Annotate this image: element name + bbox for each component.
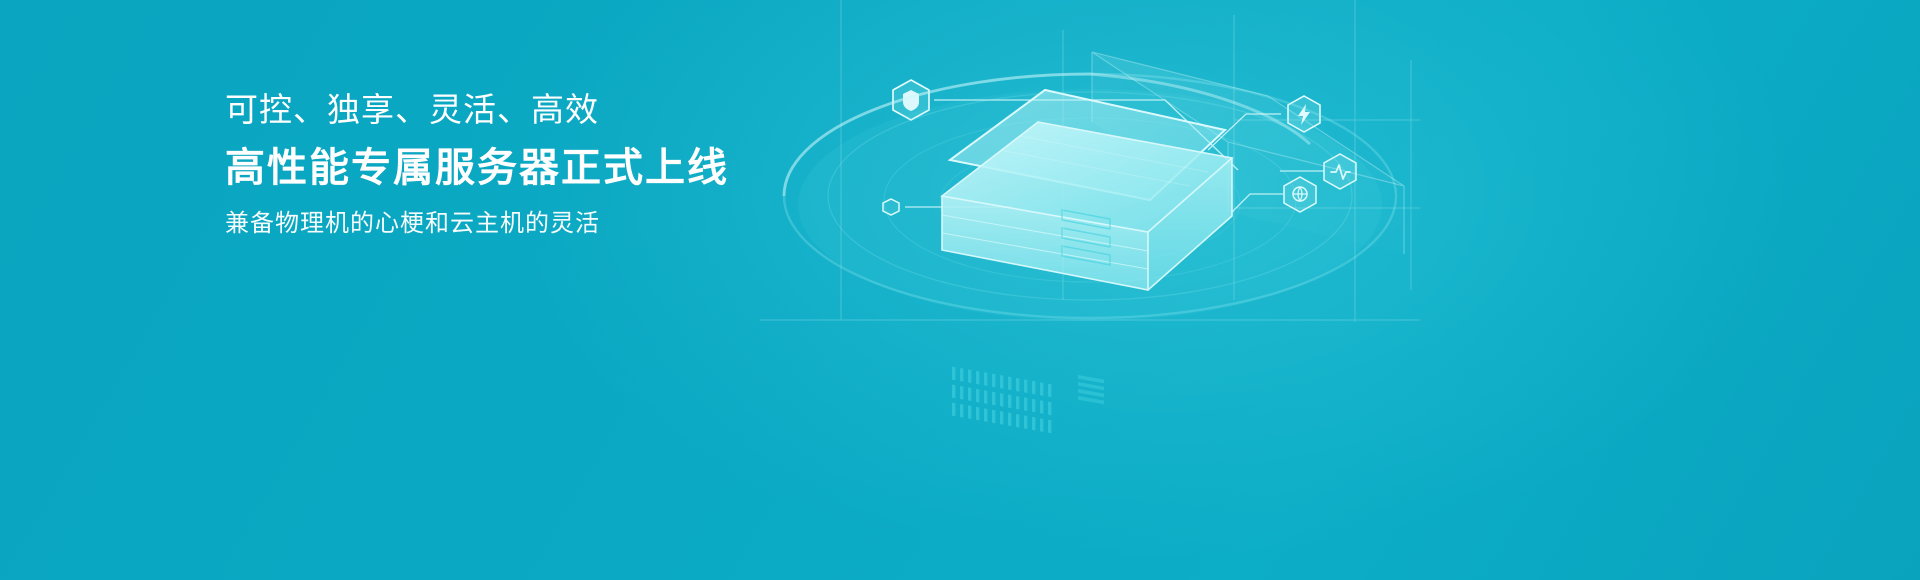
banner-eyebrow: 可控、独享、灵活、高效 xyxy=(225,88,729,132)
lightning-bolt-icon xyxy=(1288,96,1320,132)
orbital-rings xyxy=(0,0,1920,580)
globe-icon xyxy=(1284,177,1316,212)
server-chassis xyxy=(942,90,1232,433)
pulse-wave-icon xyxy=(1324,154,1356,189)
shield-icon xyxy=(893,80,929,120)
hex-node-icon xyxy=(883,199,899,215)
banner-subhead: 兼备物理机的心梗和云主机的灵活 xyxy=(225,206,729,242)
banner-headline: 高性能专属服务器正式上线 xyxy=(225,140,729,196)
background-grid xyxy=(0,0,1920,580)
hero-banner: 可控、独享、灵活、高效 高性能专属服务器正式上线 兼备物理机的心梗和云主机的灵活 xyxy=(0,0,1920,580)
server-illustration xyxy=(0,0,1920,580)
connector-lines xyxy=(905,100,1324,212)
banner-copy: 可控、独享、灵活、高效 高性能专属服务器正式上线 兼备物理机的心梗和云主机的灵活 xyxy=(225,88,729,242)
hologram-shell xyxy=(1092,52,1404,254)
